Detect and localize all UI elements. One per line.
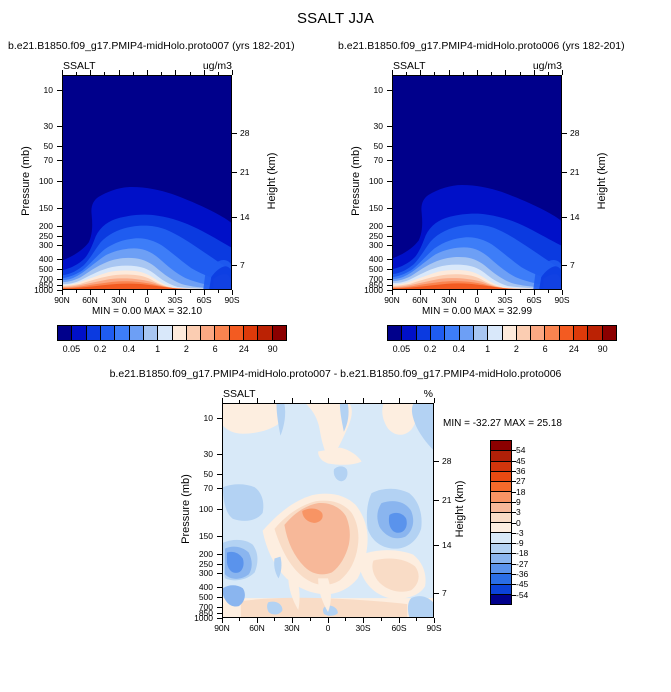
colorbar-segment (272, 326, 286, 340)
colorbar-segment (100, 326, 114, 340)
y-tick-500: 500 (357, 264, 383, 274)
y2-tick-28: 28 (570, 128, 579, 138)
colorbar-tick-label: -45 (516, 579, 528, 589)
colorbar-segment (58, 326, 71, 340)
y-tick-500: 500 (187, 592, 213, 602)
x-tick-90S: 90S (426, 623, 441, 633)
colorbar-segment (487, 326, 501, 340)
colorbar-segment (491, 543, 511, 553)
colorbar-tick-label: 0.4 (453, 344, 466, 354)
y-tick-1000: 1000 (27, 285, 53, 295)
colorbar-tick-label: 2 (514, 344, 519, 354)
colorbar-segment (502, 326, 516, 340)
diff-panel-y-axis-title: Pressure (mb) (180, 459, 192, 559)
colorbar-tick-mark (512, 533, 516, 534)
colorbar-tick-mark (512, 595, 516, 596)
y-tick-10: 10 (357, 85, 383, 95)
y-tick-400: 400 (187, 582, 213, 592)
y-tick-400: 400 (357, 254, 383, 264)
colorbar-tick-label: 45 (516, 456, 525, 466)
colorbar-tick-label: 1 (155, 344, 160, 354)
colorbar-tick-label: -54 (516, 590, 528, 600)
diff-panel-plot (222, 403, 434, 618)
colorbar-segment (491, 553, 511, 563)
colorbar-segment (229, 326, 243, 340)
x-tick-60S: 60S (196, 295, 211, 305)
colorbar-tick-label: 0 (516, 518, 521, 528)
colorbar-segment (491, 481, 511, 491)
page-title: SSALT JJA (0, 10, 671, 27)
colorbar-tick-label: 0.05 (63, 344, 81, 354)
x-tick-90S: 90S (554, 295, 569, 305)
colorbar-segment (430, 326, 444, 340)
x-tick-60S: 60S (526, 295, 541, 305)
colorbar-segment (200, 326, 214, 340)
x-tick-60N: 60N (249, 623, 265, 633)
x-tick-30S: 30S (167, 295, 182, 305)
colorbar-tick-label: 6 (213, 344, 218, 354)
colorbar-segment (243, 326, 257, 340)
y-tick-300: 300 (27, 240, 53, 250)
x-tick-30N: 30N (284, 623, 300, 633)
colorbar-segment (491, 522, 511, 532)
colorbar-tick-label: 1 (485, 344, 490, 354)
right-panel-minmax: MIN = 0.00 MAX = 32.99 (392, 306, 562, 317)
x-tick-30N: 30N (441, 295, 457, 305)
colorbar-tick-mark (512, 481, 516, 482)
y2-tick-21: 21 (442, 495, 451, 505)
colorbar-tick-label: 54 (516, 445, 525, 455)
colorbar-segment (491, 563, 511, 573)
left-panel-plot (62, 75, 232, 290)
diff-panel-y2-axis-title: Height (km) (454, 459, 466, 559)
x-tick-90N: 90N (54, 295, 70, 305)
colorbar-tick-mark (512, 502, 516, 503)
y-tick-400: 400 (27, 254, 53, 264)
y-tick-10: 10 (27, 85, 53, 95)
colorbar-segment (491, 491, 511, 501)
colorbar-tick-label: -27 (516, 559, 528, 569)
left-panel-caption: b.e21.B1850.f09_g17.PMIP4-midHolo.proto0… (8, 40, 295, 52)
colorbar-tick-label: 2 (184, 344, 189, 354)
colorbar-tick-label: 90 (268, 344, 278, 354)
x-tick-90N: 90N (214, 623, 230, 633)
colorbar-tick-label: 24 (569, 344, 579, 354)
colorbar-segment (444, 326, 458, 340)
colorbar-tick-mark (512, 574, 516, 575)
diff-panel-var-label: SSALT (223, 388, 255, 400)
colorbar-tick-mark (512, 461, 516, 462)
colorbar-tick-label: 18 (516, 487, 525, 497)
right-panel-units-label: ug/m3 (533, 60, 562, 72)
colorbar-tick-label: 24 (239, 344, 249, 354)
colorbar-segment (491, 584, 511, 594)
y-tick-1000: 1000 (357, 285, 383, 295)
colorbar-segment (587, 326, 601, 340)
y-tick-1000: 1000 (187, 613, 213, 623)
y2-tick-28: 28 (240, 128, 249, 138)
left-panel-y2-axis-title: Height (km) (266, 131, 278, 231)
colorbar-tick-mark (512, 471, 516, 472)
x-tick-30S: 30S (497, 295, 512, 305)
colorbar-tick-mark (512, 553, 516, 554)
right-panel-plot (392, 75, 562, 290)
colorbar-segment (214, 326, 228, 340)
colorbar-tick-label: -18 (516, 548, 528, 558)
colorbar-tick-mark (512, 584, 516, 585)
colorbar-segment (157, 326, 171, 340)
colorbar-segment (491, 450, 511, 460)
colorbar-tick-mark (512, 492, 516, 493)
y2-tick-7: 7 (240, 260, 245, 270)
colorbar-tick-label: 9 (516, 497, 521, 507)
y2-tick-28: 28 (442, 456, 451, 466)
colorbar-tick-label: 0.2 (94, 344, 107, 354)
colorbar-tick-label: 90 (598, 344, 608, 354)
colorbar-tick-mark (512, 523, 516, 524)
colorbar-segment (71, 326, 85, 340)
diff-panel-minmax: MIN = -32.27 MAX = 25.18 (443, 418, 562, 429)
x-tick-60N: 60N (82, 295, 98, 305)
colorbar-segment (491, 594, 511, 604)
colorbar-tick-label: 0.05 (393, 344, 411, 354)
left-panel-colorbar[interactable] (57, 325, 287, 341)
y2-tick-21: 21 (240, 167, 249, 177)
left-panel-y-axis-title: Pressure (mb) (20, 131, 32, 231)
colorbar-segment (257, 326, 271, 340)
x-tick-0: 0 (475, 295, 480, 305)
colorbar-tick-label: 0.2 (424, 344, 437, 354)
y-tick-10: 10 (187, 413, 213, 423)
y2-tick-14: 14 (442, 540, 451, 550)
colorbar-segment (401, 326, 415, 340)
x-tick-90S: 90S (224, 295, 239, 305)
x-tick-60S: 60S (391, 623, 406, 633)
colorbar-segment (491, 461, 511, 471)
y-tick-300: 300 (187, 568, 213, 578)
colorbar-segment (491, 532, 511, 542)
colorbar-tick-mark (512, 543, 516, 544)
y-tick-30: 30 (357, 121, 383, 131)
right-panel-y-axis-title: Pressure (mb) (350, 131, 362, 231)
colorbar-segment (114, 326, 128, 340)
colorbar-segment (459, 326, 473, 340)
left-panel-colorbar-labels: 0.050.20.41262490 (57, 344, 287, 356)
y2-tick-14: 14 (240, 212, 249, 222)
colorbar-tick-label: 3 (516, 507, 521, 517)
colorbar-tick-label: -9 (516, 538, 524, 548)
colorbar-segment (473, 326, 487, 340)
colorbar-segment (129, 326, 143, 340)
colorbar-segment (491, 502, 511, 512)
colorbar-segment (416, 326, 430, 340)
colorbar-segment (86, 326, 100, 340)
colorbar-tick-label: 36 (516, 466, 525, 476)
colorbar-segment (530, 326, 544, 340)
colorbar-segment (491, 573, 511, 583)
diff-panel-caption: b.e21.B1850.f09_g17.PMIP4-midHolo.proto0… (0, 368, 671, 380)
colorbar-tick-label: 6 (543, 344, 548, 354)
colorbar-segment (491, 512, 511, 522)
colorbar-tick-label: -36 (516, 569, 528, 579)
right-panel-caption: b.e21.B1850.f09_g17.PMIP4-midHolo.proto0… (338, 40, 625, 52)
diff-panel-contours (223, 404, 433, 617)
colorbar-segment (602, 326, 616, 340)
left-panel-contours (63, 76, 231, 289)
colorbar-segment (559, 326, 573, 340)
y2-tick-7: 7 (442, 588, 447, 598)
colorbar-segment (186, 326, 200, 340)
right-panel-y2-axis-title: Height (km) (596, 131, 608, 231)
y-tick-30: 30 (27, 121, 53, 131)
colorbar-tick-mark (512, 450, 516, 451)
diff-panel-colorbar-labels: 5445362718930-3-9-18-27-36-45-54 (516, 440, 546, 605)
colorbar-segment (491, 441, 511, 450)
y-tick-500: 500 (27, 264, 53, 274)
y-tick-300: 300 (357, 240, 383, 250)
colorbar-tick-label: -3 (516, 528, 524, 538)
x-tick-30S: 30S (355, 623, 370, 633)
colorbar-tick-label: 0.4 (123, 344, 136, 354)
left-panel-minmax: MIN = 0.00 MAX = 32.10 (62, 306, 232, 317)
colorbar-segment (172, 326, 186, 340)
colorbar-tick-mark (512, 564, 516, 565)
x-tick-30N: 30N (111, 295, 127, 305)
diff-panel-colorbar[interactable] (490, 440, 512, 605)
y-tick-30: 30 (187, 449, 213, 459)
colorbar-segment (143, 326, 157, 340)
x-tick-0: 0 (326, 623, 331, 633)
colorbar-segment (516, 326, 530, 340)
colorbar-segment (544, 326, 558, 340)
x-tick-0: 0 (145, 295, 150, 305)
right-panel-colorbar[interactable] (387, 325, 617, 341)
colorbar-segment (388, 326, 401, 340)
x-tick-60N: 60N (412, 295, 428, 305)
diff-panel-units-label: % (424, 388, 433, 400)
right-panel-colorbar-labels: 0.050.20.41262490 (387, 344, 617, 356)
y2-tick-21: 21 (570, 167, 579, 177)
y2-tick-7: 7 (570, 260, 575, 270)
x-tick-90N: 90N (384, 295, 400, 305)
left-panel-units-label: ug/m3 (203, 60, 232, 72)
colorbar-segment (573, 326, 587, 340)
right-panel-contours (393, 76, 561, 289)
colorbar-tick-mark (512, 512, 516, 513)
y2-tick-14: 14 (570, 212, 579, 222)
colorbar-segment (491, 471, 511, 481)
colorbar-tick-label: 27 (516, 476, 525, 486)
